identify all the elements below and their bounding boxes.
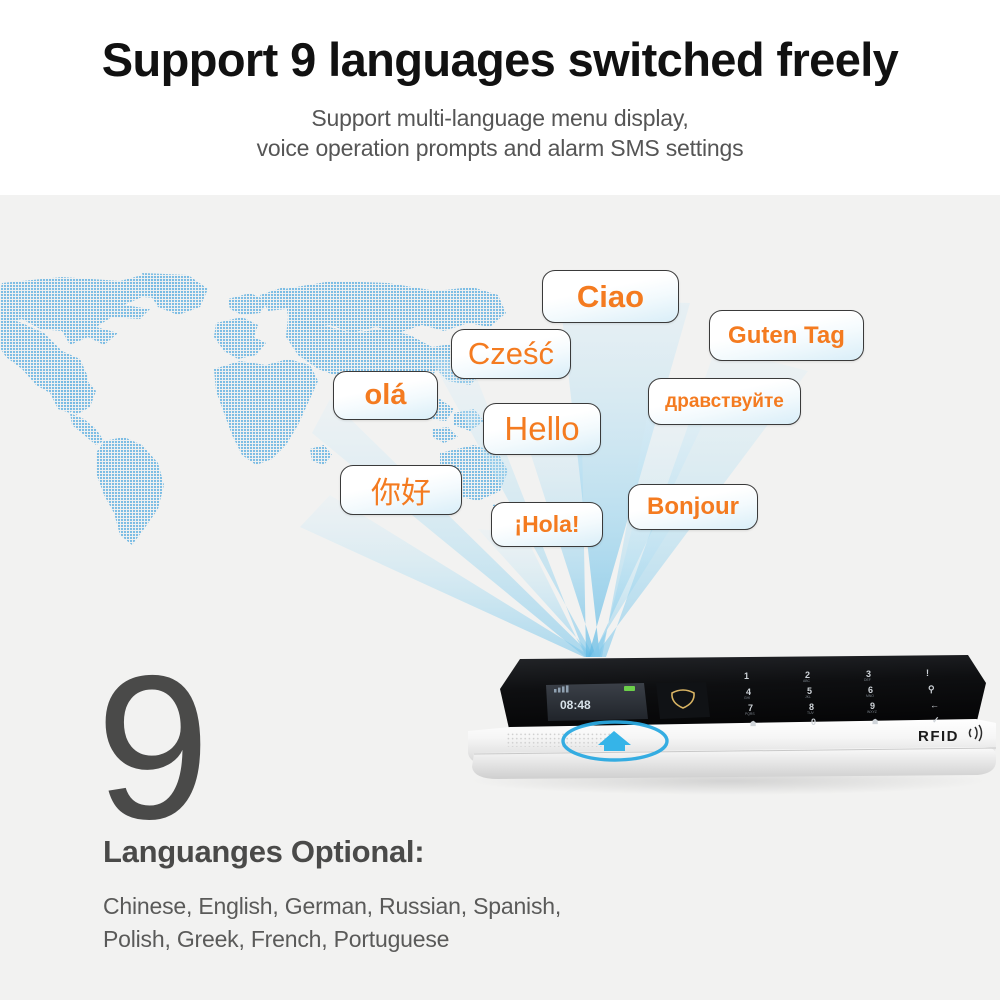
- page-subtitle: Support multi-language menu display, voi…: [0, 103, 1000, 163]
- page-header: Support 9 languages switched freely Supp…: [0, 0, 1000, 195]
- key-9-sub: WXYZ: [867, 710, 877, 714]
- speech-bubble-german[interactable]: Guten Tag: [709, 310, 864, 361]
- key-sos: !: [926, 668, 929, 678]
- speech-bubble-portuguese[interactable]: olá: [333, 371, 438, 420]
- subtitle-line-2: voice operation prompts and alarm SMS se…: [0, 133, 1000, 163]
- languages-optional-heading: Languanges Optional:: [103, 834, 424, 870]
- speech-bubble-spanish[interactable]: ¡Hola!: [491, 502, 603, 547]
- battery-icon: [624, 686, 635, 691]
- languages-list-line-2: Polish, Greek, French, Portuguese: [103, 923, 743, 956]
- languages-list-line-1: Chinese, English, German, Russian, Spani…: [103, 890, 743, 923]
- speech-bubble-italian[interactable]: Ciao: [542, 270, 679, 323]
- illustration-stage: Ciao Guten Tag Cześć olá Hello дравствуй…: [0, 195, 1000, 1000]
- key-8-sub: TUV: [807, 711, 815, 715]
- page-title: Support 9 languages switched freely: [0, 30, 1000, 90]
- speech-bubble-chinese[interactable]: 你好: [340, 465, 462, 515]
- speech-bubble-english[interactable]: Hello: [483, 403, 601, 455]
- rfid-label: RFID: [918, 728, 959, 745]
- key-0: 0: [811, 717, 816, 727]
- key-6-sub: MNO: [866, 694, 874, 698]
- key-4-sub: GHI: [744, 696, 750, 700]
- key-check: ✓: [932, 715, 940, 725]
- key-1: 1: [744, 671, 749, 681]
- device-status-shield: [656, 682, 710, 719]
- languages-list: Chinese, English, German, Russian, Spani…: [103, 890, 743, 956]
- device-lcd-screen: 08:48: [546, 683, 648, 721]
- subtitle-line-1: Support multi-language menu display,: [0, 103, 1000, 133]
- key-3-sub: DEF: [864, 678, 871, 682]
- lcd-time-text: 08:48: [560, 698, 591, 712]
- key-disarm: ⚲: [928, 684, 935, 694]
- language-count-number: 9: [96, 650, 210, 845]
- key-arm: ☗: [872, 718, 878, 726]
- alarm-panel-device[interactable]: 08:48 1 2 3 ! 4 5 6: [448, 653, 1000, 793]
- speech-bubble-russian[interactable]: дравствуйте: [648, 378, 801, 425]
- key-home-arm: ☗: [750, 720, 756, 728]
- speech-bubble-french[interactable]: Bonjour: [628, 484, 758, 530]
- key-delete: ←: [930, 700, 939, 710]
- key-2-sub: ABC: [803, 679, 811, 683]
- speech-bubble-polish[interactable]: Cześć: [451, 329, 571, 379]
- key-7-sub: PQRS: [745, 712, 755, 716]
- key-5-sub: JKL: [805, 695, 811, 699]
